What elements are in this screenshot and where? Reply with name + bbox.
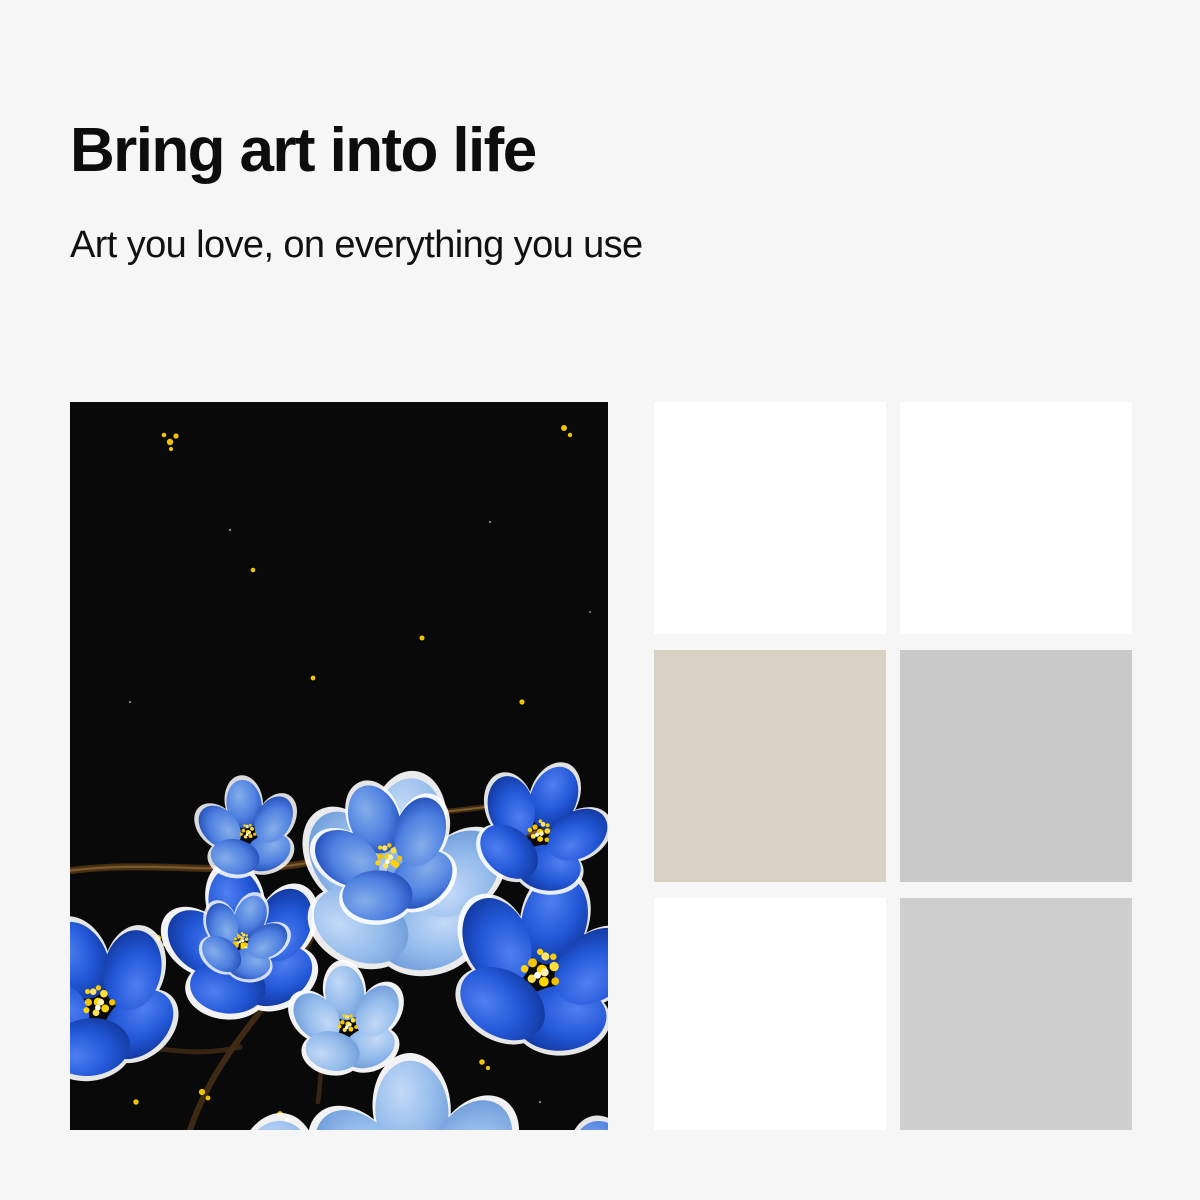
product-grid: 10 26 bbox=[654, 402, 1132, 1130]
product-showcase-page: Bring art into life Art you love, on eve… bbox=[0, 0, 1200, 1200]
product-gallery: 10 26 bbox=[70, 402, 1132, 1130]
tile-backdrop bbox=[654, 402, 886, 634]
tile-backdrop bbox=[900, 898, 1132, 1130]
product-tile-framed-print[interactable] bbox=[900, 898, 1132, 1130]
tile-backdrop bbox=[654, 650, 886, 882]
product-tile-desk-mat[interactable]: 10 26 bbox=[654, 650, 886, 882]
header: Bring art into life Art you love, on eve… bbox=[70, 118, 1130, 267]
product-tile-wall-hanging[interactable] bbox=[900, 650, 1132, 882]
product-tile-mug[interactable] bbox=[654, 898, 886, 1130]
page-title: Bring art into life bbox=[70, 118, 1130, 183]
tile-backdrop bbox=[900, 650, 1132, 882]
product-tile-phone-case[interactable] bbox=[900, 402, 1132, 634]
blue-blossom-artwork-icon bbox=[70, 402, 608, 1130]
product-tile-phone-wallpaper[interactable] bbox=[654, 402, 886, 634]
hero-artwork[interactable] bbox=[70, 402, 608, 1130]
page-subtitle: Art you love, on everything you use bbox=[70, 225, 1130, 267]
tile-backdrop bbox=[900, 402, 1132, 634]
tile-backdrop bbox=[654, 898, 886, 1130]
